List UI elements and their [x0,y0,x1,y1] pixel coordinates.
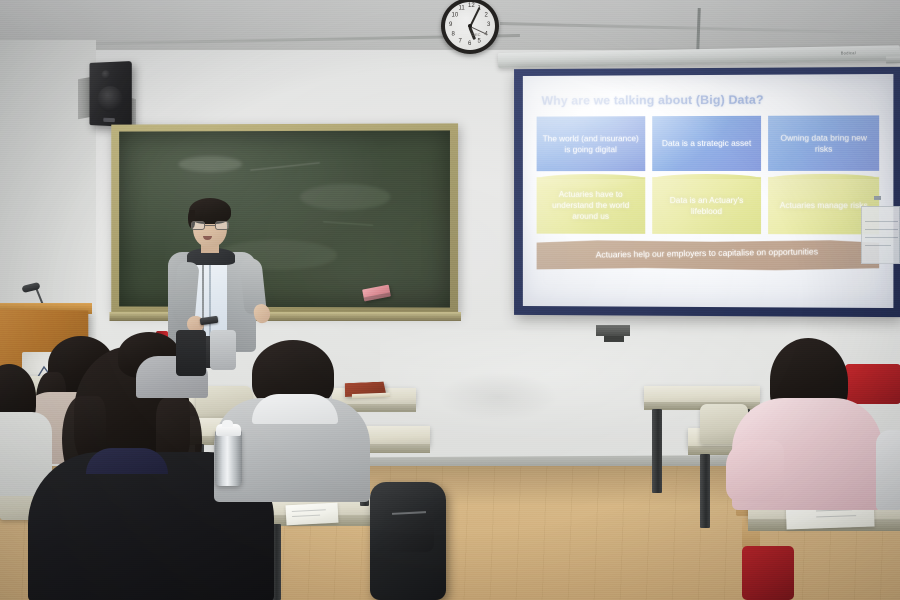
presenter-shirt-placket [209,256,211,336]
presentation-slide: Why are we talking about (Big) Data? The… [523,74,894,308]
thermos-tab [222,420,233,427]
clock-numeral: 9 [449,22,452,28]
clock-brand-label: CIEC [471,32,481,37]
clock-numeral: 3 [487,22,490,28]
clock-numeral: 2 [484,13,487,19]
clock-numeral: 11 [459,6,465,12]
slide-box-blue-1: The world (and insurance) is going digit… [537,116,645,171]
chalk-streak [251,162,321,170]
thermos-bottle [215,430,242,486]
speaker-badge [103,118,115,122]
student-hood [252,394,338,424]
wall-notice [861,206,900,264]
wall-smudge [438,372,558,422]
ceiling-fixture [596,325,630,336]
glasses-lens-left [191,221,205,230]
wall-speaker [89,61,131,127]
clock-numeral: 7 [459,38,462,44]
clock-numeral: 5 [478,38,481,44]
roller-brand-label: Bodical [841,50,856,55]
clock-center-pin [468,24,472,28]
classroom-scene: 121234567891011 CIEC Bodical Why are [0,0,900,600]
clock-numeral: 8 [452,32,455,38]
slide-box-grid: The world (and insurance) is going digit… [537,115,880,234]
wall-clock: 121234567891011 CIEC [441,0,499,54]
desk-leg [700,454,710,528]
notice-tag [874,196,881,200]
slide-box-yellow-1: Actuaries have to understand the world a… [537,177,645,234]
chalk-streak [323,221,373,226]
slide-box-blue-2: Data is a strategic asset [652,116,762,171]
clock-numeral: 6 [468,41,471,47]
slide-banner: Actuaries help our employers to capitali… [537,240,880,271]
red-bag [845,364,900,404]
red-bag [742,546,794,600]
slide-box-blue-3: Owning data bring new risks [768,115,879,171]
clock-numeral: 10 [452,13,459,19]
glasses-lens-right [215,221,229,230]
chalk-smudge [300,184,390,210]
projection-screen: Why are we talking about (Big) Data? The… [514,67,900,317]
roller-endcap [886,56,900,63]
papers [286,503,339,526]
chalk-smudge [178,156,242,172]
ceiling-drop-wire [696,8,701,52]
speaker-tweeter [101,70,110,79]
student-arm [726,440,784,502]
slide-title: Why are we talking about (Big) Data? [542,92,880,107]
projection-surface: Why are we talking about (Big) Data? The… [523,74,894,308]
slide-banner-text: Actuaries help our employers to capitali… [596,247,818,261]
clock-numeral: 12 [468,3,475,9]
standing-figure-body [210,330,236,370]
speaker-cone [98,86,123,112]
student-collar [86,448,168,474]
presenter-glasses [191,221,229,230]
slide-box-yellow-2: Data is an Actuary's lifeblood [652,177,762,234]
standing-figure-legs [176,330,206,376]
glasses-bridge [205,225,215,226]
ceiling-fixture-base [604,336,624,342]
student-torso [876,430,900,510]
desk-leg [652,409,662,493]
